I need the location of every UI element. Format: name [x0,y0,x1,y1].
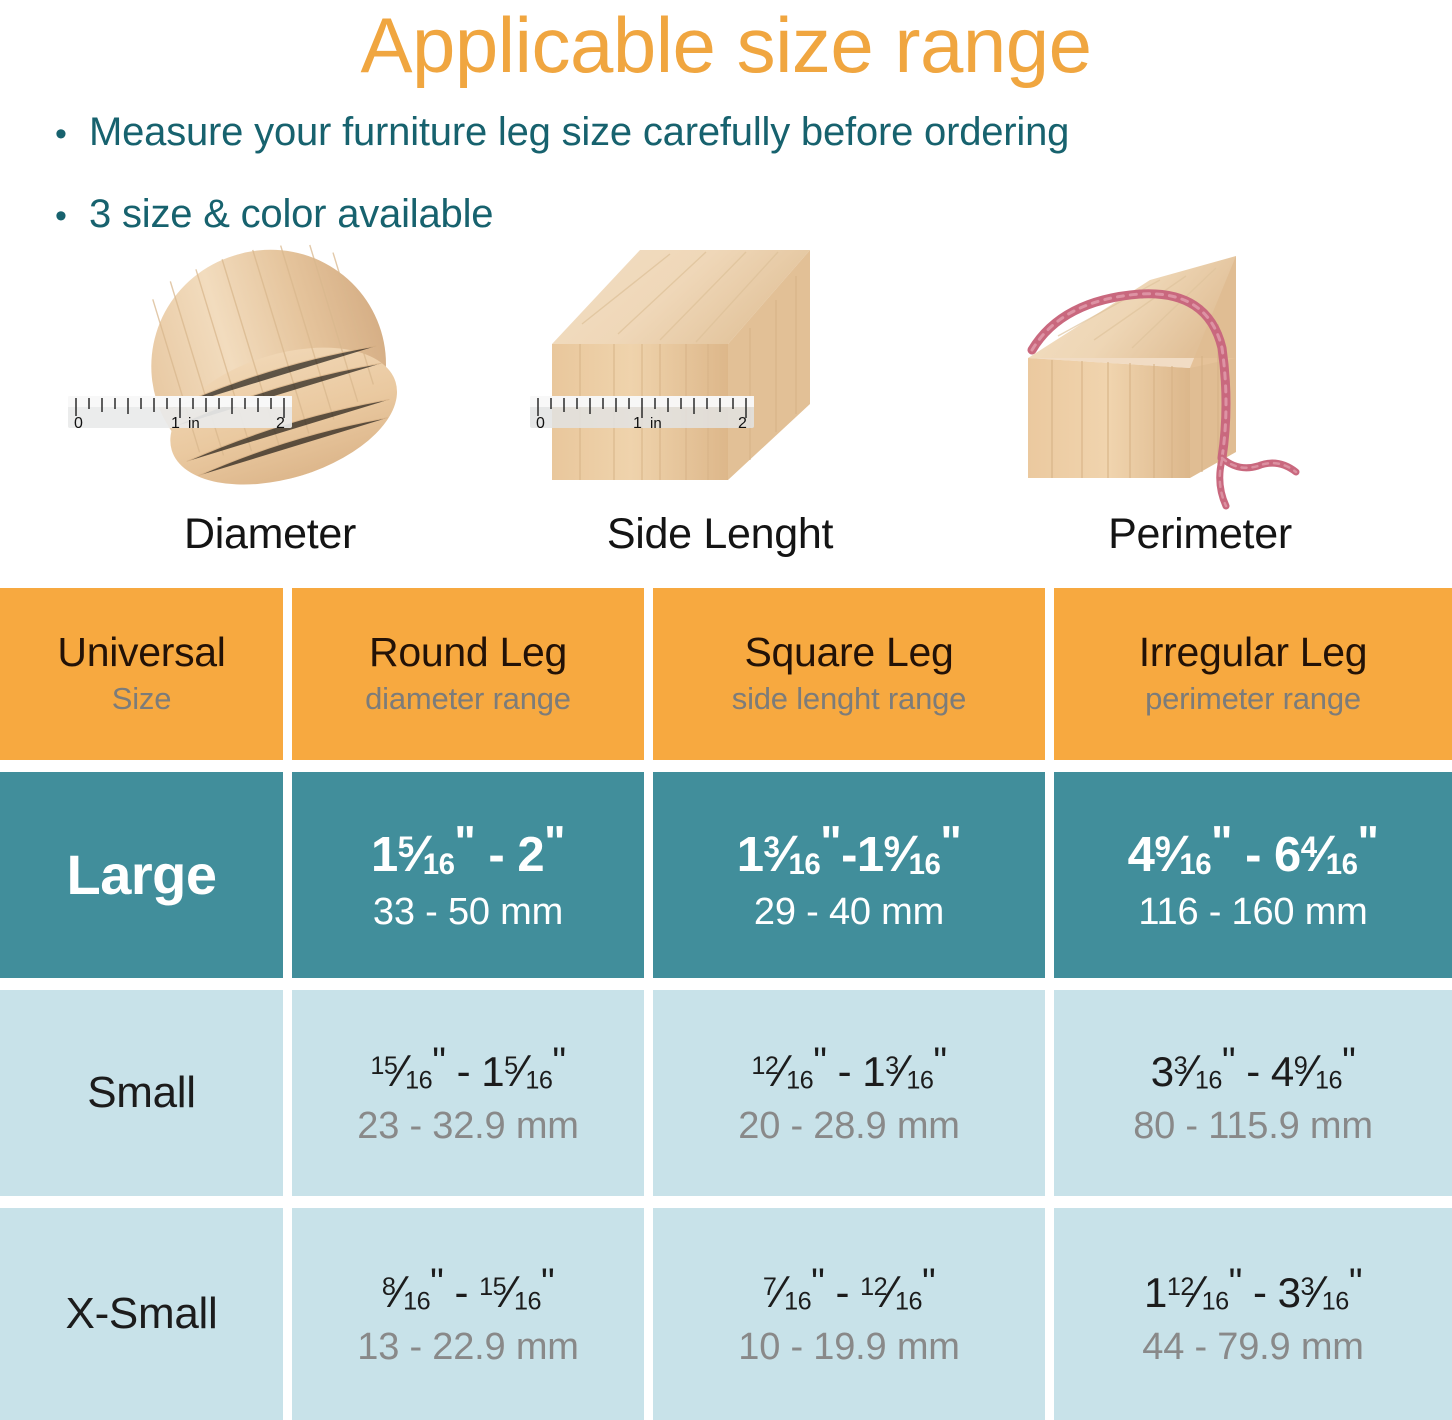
svg-text:in: in [650,415,662,432]
size-table: Universal Size Round Leg diameter range … [0,588,1452,1420]
table-header-cell-square-leg: Square Leg side lenght range [653,588,1045,760]
mm-range: 44 - 79.9 mm [1142,1324,1363,1370]
header-main: Round Leg [369,629,567,675]
table-header-row: Universal Size Round Leg diameter range … [0,588,1452,760]
bullet-list: • Measure your furniture leg size carefu… [55,104,1385,244]
bullet-text: Measure your furniture leg size carefull… [89,104,1069,160]
inch-range: 7⁄16" - 12⁄16" [763,1258,935,1318]
svg-text:in: in [188,415,200,432]
svg-text:0: 0 [74,415,83,432]
svg-text:2: 2 [276,415,285,432]
illustration-caption: Perimeter [990,508,1410,560]
inch-range: 33⁄16" - 49⁄16" [1151,1037,1356,1097]
mm-range: 20 - 28.9 mm [738,1103,959,1149]
inch-range: 15⁄16" - 15⁄16" [370,1037,565,1097]
round-wood-leg-icon: 0 1 in 2 [60,228,480,510]
table-header-cell-universal: Universal Size [0,588,283,760]
size-cell: Large [0,772,283,978]
mm-range: 33 - 50 mm [373,889,563,935]
svg-text:2: 2 [738,415,747,432]
table-header-cell-irregular-leg: Irregular Leg perimeter range [1054,588,1452,760]
svg-text:1: 1 [633,415,642,432]
table-row-small: Small 15⁄16" - 15⁄16" 23 - 32.9 mm 12⁄16… [0,990,1452,1196]
bullet-marker-icon: • [55,106,89,162]
inch-range: 8⁄16" - 15⁄16" [382,1258,554,1318]
value-cell-irregular: 49⁄16" - 64⁄16" 116 - 160 mm [1054,772,1452,978]
illustration-band: 0 1 in 2 Diameter [0,228,1452,576]
size-cell: Small [0,990,283,1196]
value-cell-round: 15⁄16" - 15⁄16" 23 - 32.9 mm [292,990,644,1196]
illustration-side-length: 0 1 in 2 Side Lenght [510,228,930,576]
mm-range: 10 - 19.9 mm [738,1324,959,1370]
svg-text:0: 0 [536,415,545,432]
table-row-xsmall: X-Small 8⁄16" - 15⁄16" 13 - 22.9 mm 7⁄16… [0,1208,1452,1420]
header-sub: Size [112,679,172,719]
value-cell-round: 8⁄16" - 15⁄16" 13 - 22.9 mm [292,1208,644,1420]
size-label: X-Small [66,1289,218,1339]
mm-range: 13 - 22.9 mm [357,1324,578,1370]
list-item: • Measure your furniture leg size carefu… [55,104,1385,162]
value-cell-square: 12⁄16" - 13⁄16" 20 - 28.9 mm [653,990,1045,1196]
inch-range: 12⁄16" - 13⁄16" [751,1037,946,1097]
square-wood-leg-icon: 0 1 in 2 [510,228,930,510]
irregular-wood-leg-icon [990,228,1410,510]
page-title: Applicable size range [0,2,1452,88]
table-header-cell-round-leg: Round Leg diameter range [292,588,644,760]
mm-range: 116 - 160 mm [1138,889,1367,935]
inch-range: 15⁄16" - 2" [371,815,565,884]
header-main: Irregular Leg [1139,629,1368,675]
size-label: Large [67,845,217,905]
header-sub: side lenght range [732,679,966,719]
mm-range: 80 - 115.9 mm [1133,1103,1373,1149]
illustration-caption: Diameter [60,508,480,560]
inch-range: 49⁄16" - 64⁄16" [1128,815,1379,884]
value-cell-square: 7⁄16" - 12⁄16" 10 - 19.9 mm [653,1208,1045,1420]
illustration-diameter: 0 1 in 2 Diameter [60,228,480,576]
header-main: Square Leg [744,629,953,675]
value-cell-irregular: 33⁄16" - 49⁄16" 80 - 115.9 mm [1054,990,1452,1196]
header-main: Universal [57,629,225,675]
inch-range: 13⁄16"-19⁄16" [737,815,961,884]
size-cell: X-Small [0,1208,283,1420]
size-label: Small [87,1068,196,1118]
header-sub: diameter range [365,679,571,719]
svg-text:1: 1 [171,415,180,432]
illustration-caption: Side Lenght [510,508,930,560]
inch-range: 112⁄16" - 33⁄16" [1144,1258,1362,1318]
infographic-page: Applicable size range • Measure your fur… [0,0,1452,1420]
illustration-perimeter: Perimeter [990,228,1410,576]
mm-range: 29 - 40 mm [754,889,944,935]
table-row-large: Large 15⁄16" - 2" 33 - 50 mm 13⁄16"-19⁄1… [0,772,1452,978]
value-cell-irregular: 112⁄16" - 33⁄16" 44 - 79.9 mm [1054,1208,1452,1420]
header-sub: perimeter range [1145,679,1361,719]
value-cell-square: 13⁄16"-19⁄16" 29 - 40 mm [653,772,1045,978]
value-cell-round: 15⁄16" - 2" 33 - 50 mm [292,772,644,978]
mm-range: 23 - 32.9 mm [357,1103,578,1149]
